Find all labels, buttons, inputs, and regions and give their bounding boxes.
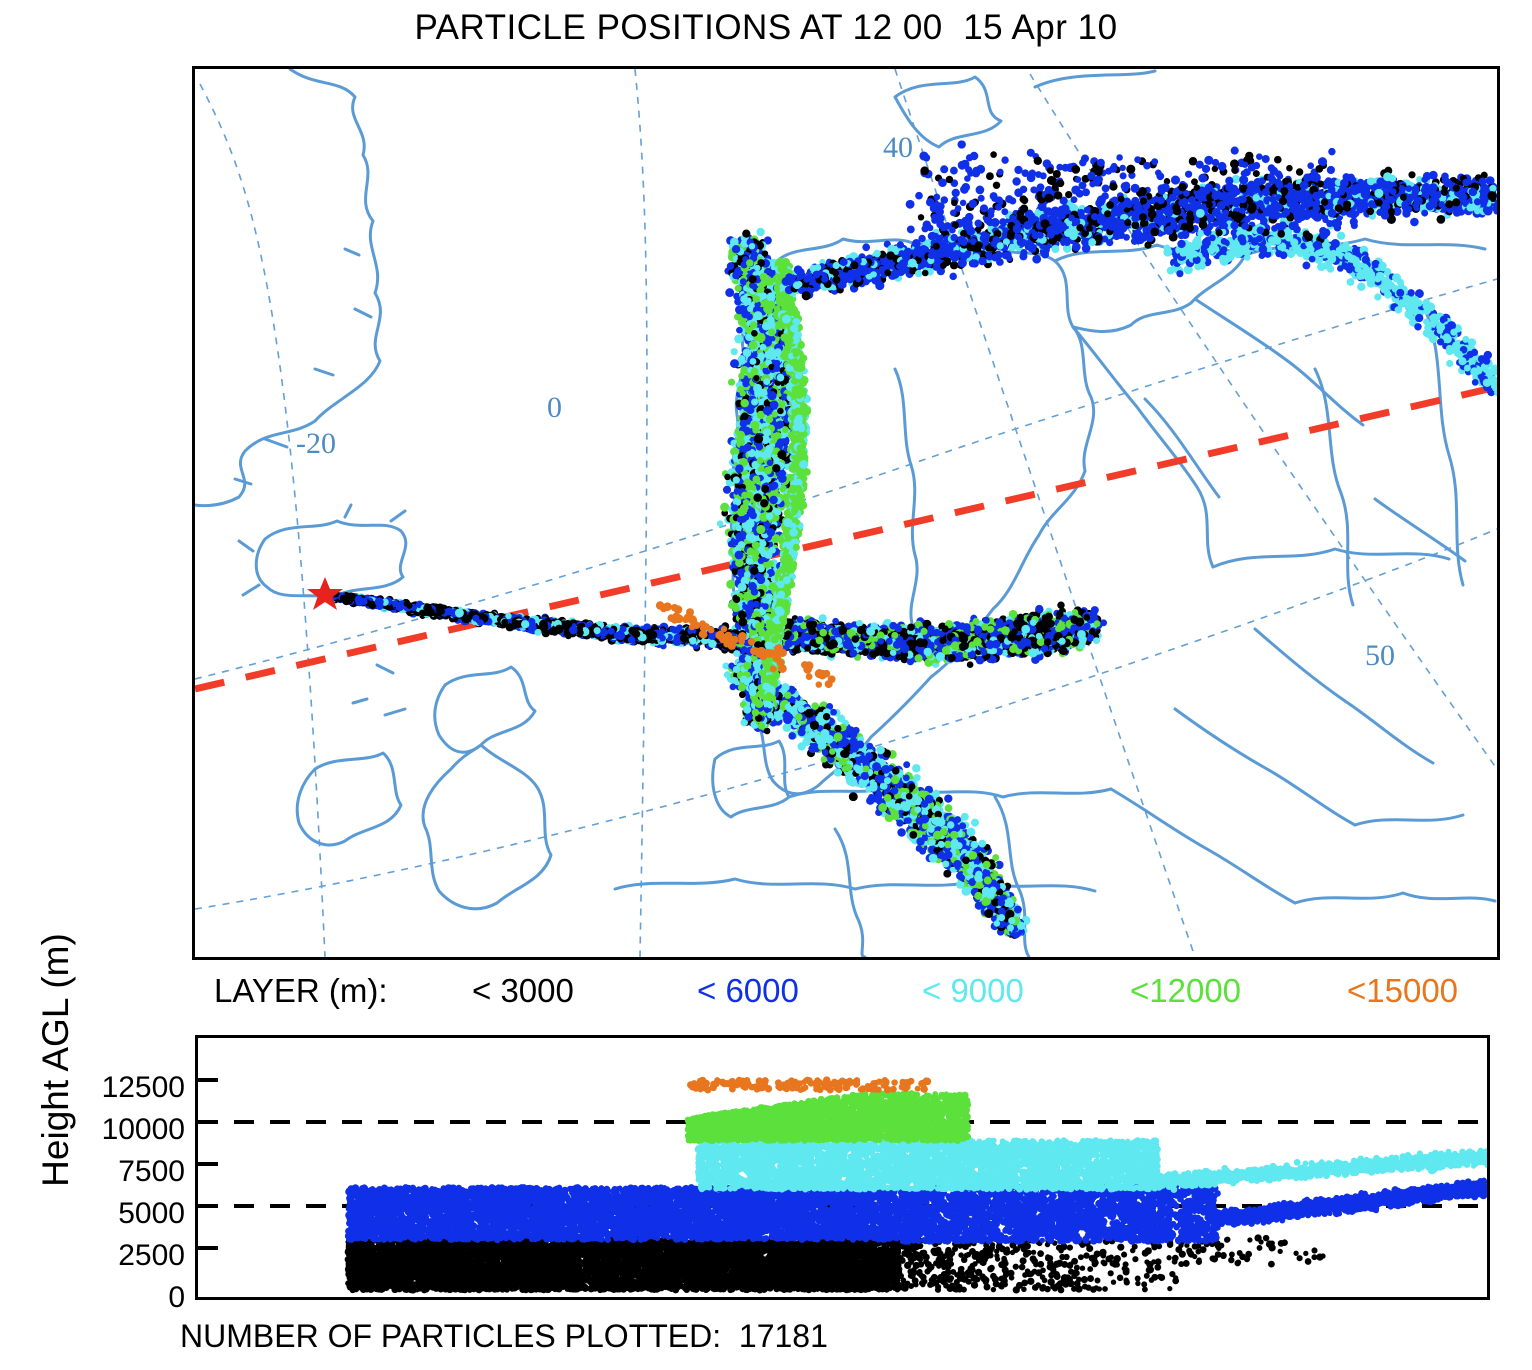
particle-scatter-height: [345, 1076, 1487, 1293]
ytick-2500: 2500: [5, 1239, 185, 1273]
ytick-0: 0: [5, 1281, 185, 1315]
height-profile-panel[interactable]: [195, 1035, 1490, 1300]
height-axis-ticks: 12500 10000 7500 5000 2500 0: [0, 1035, 185, 1300]
legend-item-15000[interactable]: <15000: [1347, 972, 1458, 1010]
map-plot: [195, 69, 1497, 957]
layer-legend: LAYER (m): < 3000 < 6000 < 9000 <12000 <…: [192, 972, 1532, 1014]
page-title: PARTICLE POSITIONS AT 12 00 15 Apr 10: [0, 8, 1532, 48]
particle-count-note: NUMBER OF PARTICLES PLOTTED: 17181: [180, 1318, 828, 1355]
ytick-5000: 5000: [5, 1197, 185, 1231]
ytick-7500: 7500: [5, 1155, 185, 1189]
legend-caption: LAYER (m):: [214, 972, 388, 1010]
axis-ticks: [198, 1080, 218, 1248]
graticule-label-minus20: -20: [296, 427, 336, 461]
legend-item-9000[interactable]: < 9000: [922, 972, 1024, 1010]
graticule-label-50: 50: [1365, 639, 1395, 673]
ytick-10000: 10000: [5, 1113, 185, 1147]
legend-item-6000[interactable]: < 6000: [697, 972, 799, 1010]
graticule-label-40: 40: [883, 131, 913, 165]
map-panel[interactable]: 40 0 -20 50: [192, 66, 1500, 960]
graticule-label-0: 0: [547, 391, 562, 425]
ytick-12500: 12500: [5, 1071, 185, 1105]
legend-item-12000[interactable]: <12000: [1130, 972, 1241, 1010]
height-profile-plot: [198, 1038, 1487, 1297]
particle-scatter-map: [320, 140, 1497, 939]
legend-item-3000[interactable]: < 3000: [472, 972, 574, 1010]
